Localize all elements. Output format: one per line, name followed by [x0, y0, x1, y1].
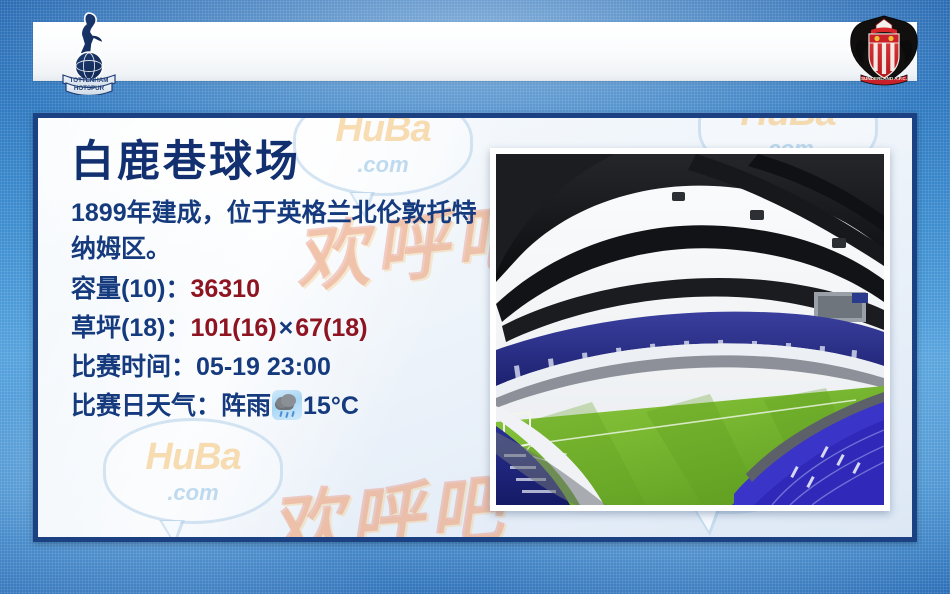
crest-scroll-bottom-text: HOTSPUR [74, 85, 105, 92]
watermark-huba-text: HuBa [103, 436, 283, 479]
pitch-multiply-sign: × [277, 314, 296, 342]
weather-row: 比赛日天气：阵雨 15°C [71, 387, 491, 426]
watermark-huba-text: HuBa [698, 113, 878, 135]
pitch-row: 草坪(18)：101(16)×67(18) [71, 309, 491, 348]
pitch-length-value: 101(16) [190, 314, 276, 342]
kickoff-row: 比赛时间：05-19 23:00 [71, 348, 491, 387]
pitch-label: 草坪(18)： [71, 314, 190, 342]
stadium-photo-frame [490, 148, 890, 511]
tottenham-hotspur-crest: TOTTENHAM HOTSPUR [58, 11, 120, 95]
watermark-bubble-bottom-left: HuBa .com [103, 418, 283, 542]
crest-scroll-top-text: TOTTENHAM [70, 77, 109, 84]
teams-header-bar [33, 22, 917, 81]
capacity-value: 36310 [190, 275, 260, 303]
stadium-title: 白鹿巷球场 [71, 140, 491, 185]
stadium-photo [496, 154, 884, 505]
rain-shower-icon [272, 390, 302, 420]
sunderland-afc-crest: SUNDERLAND A.F.C. [845, 14, 923, 88]
stadium-description: 1899年建成，位于英格兰北伦敦托特纳姆区。 [71, 195, 481, 268]
weather-label: 比赛日天气： [71, 392, 221, 420]
stadium-info-panel: HuBa .com HuBa .com HuBa .com HuBa .com … [33, 113, 917, 542]
weather-temperature: 15°C [303, 392, 359, 420]
match-info-graphic: TOTTENHAM HOTSPUR 热刺 桑德兰 [0, 0, 950, 594]
watermark-brand-text: 欢呼吧 [264, 448, 512, 542]
kickoff-label: 比赛时间： [71, 353, 196, 381]
weather-condition: 阵雨 [221, 392, 271, 420]
crest-scroll-text: SUNDERLAND A.F.C. [861, 76, 907, 81]
capacity-label: 容量(10)： [71, 275, 190, 303]
capacity-row: 容量(10)：36310 [71, 270, 491, 309]
stadium-info-column: 白鹿巷球场 1899年建成，位于英格兰北伦敦托特纳姆区。 容量(10)：3631… [71, 140, 491, 426]
pitch-width-value: 67(18) [295, 314, 367, 342]
watermark-domain-text: .com [103, 480, 283, 506]
kickoff-value: 05-19 23:00 [196, 353, 331, 381]
